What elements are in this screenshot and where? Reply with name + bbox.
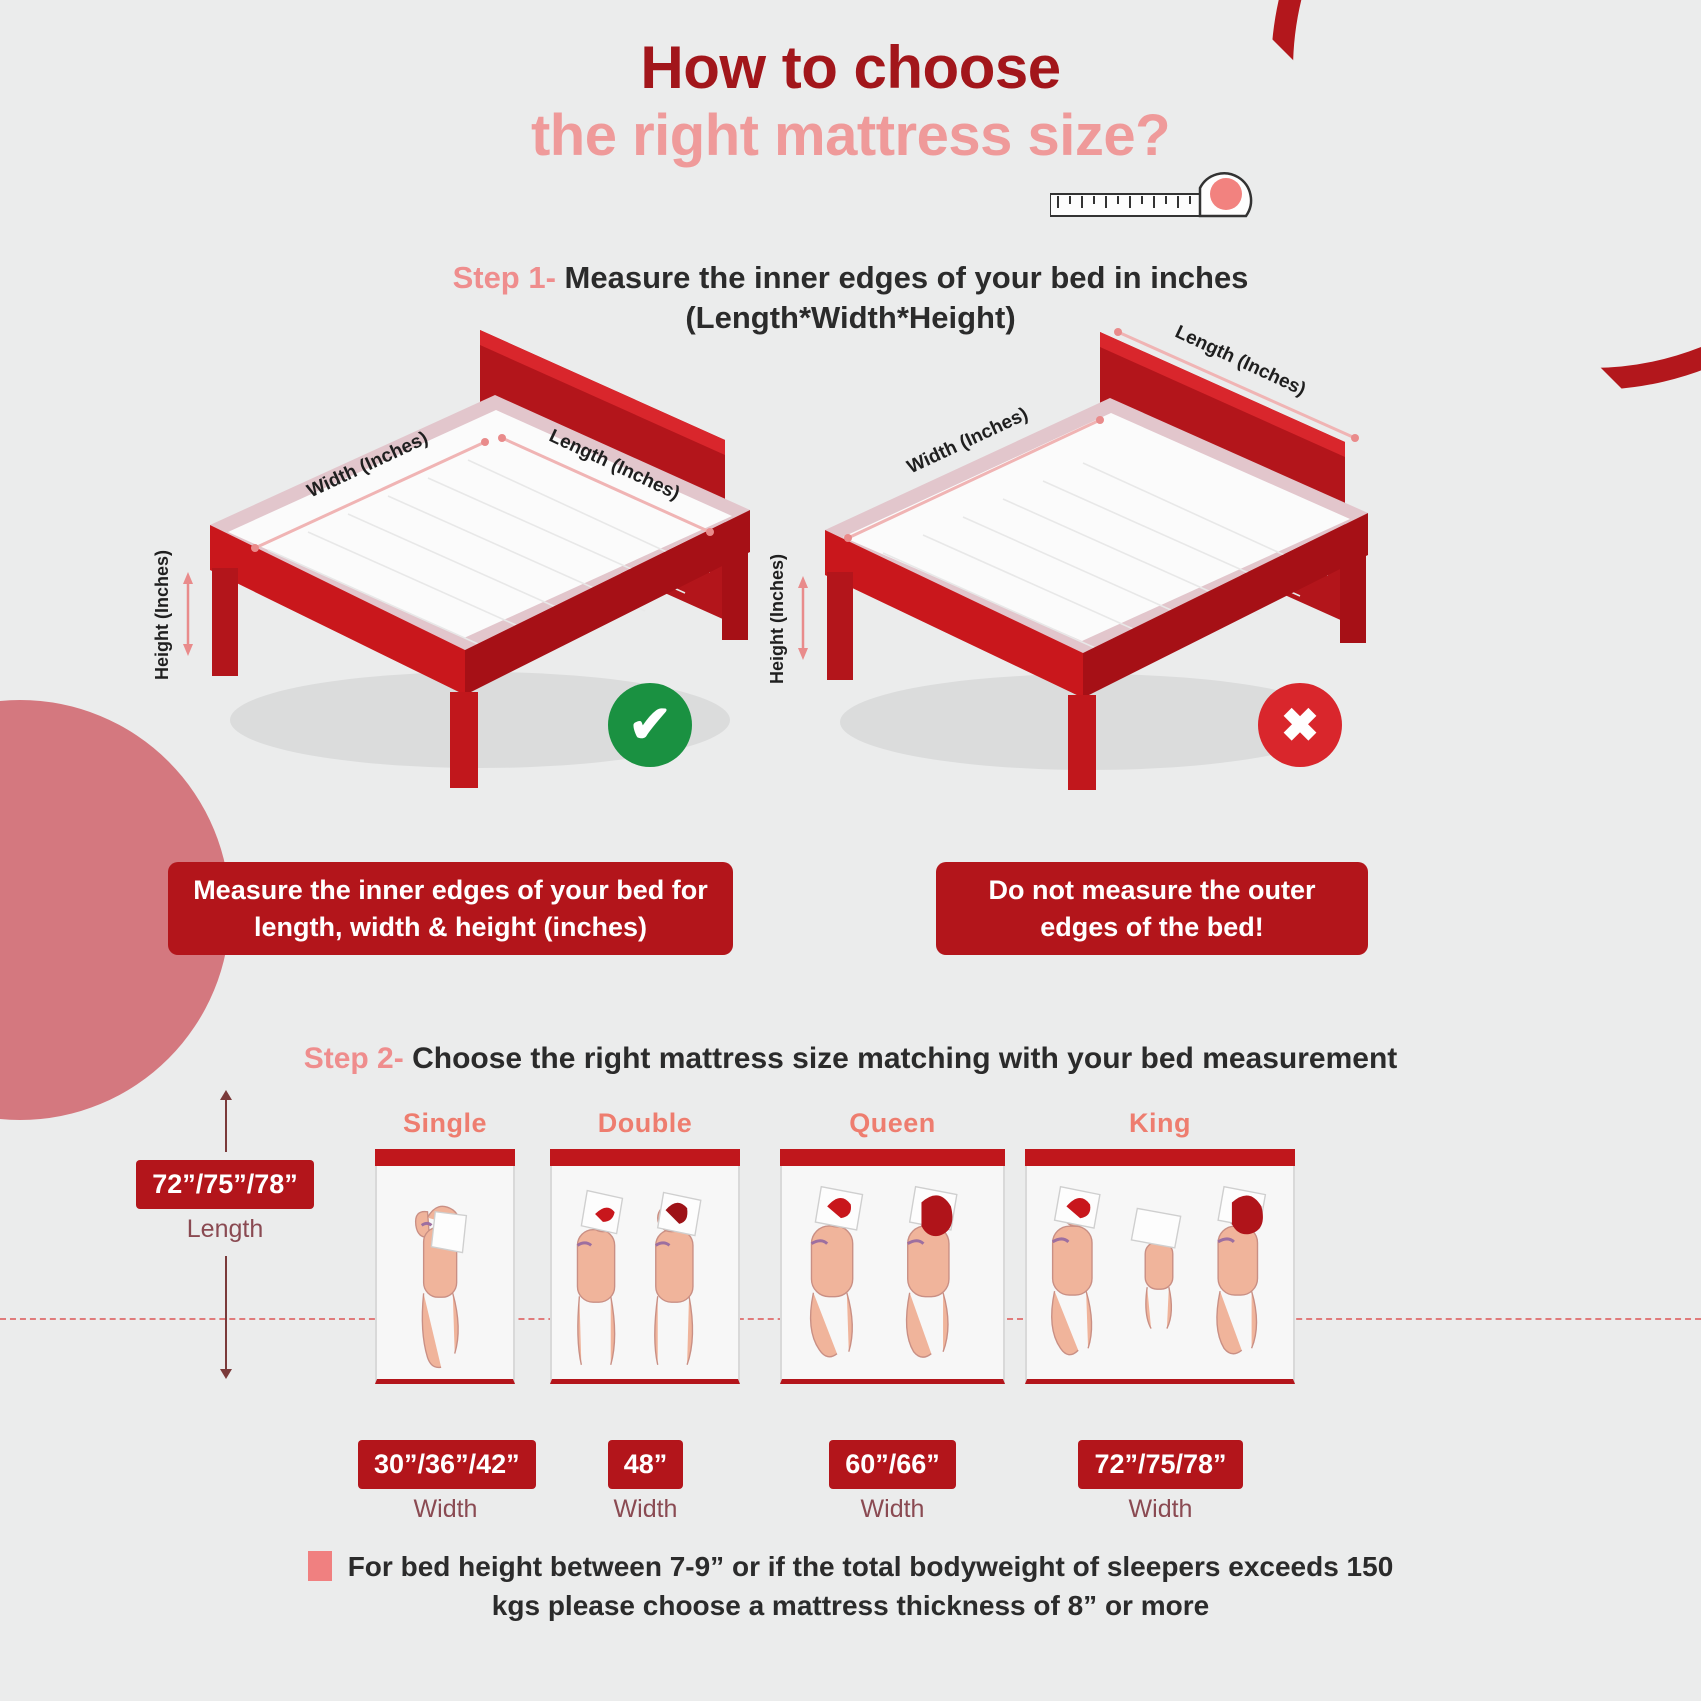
size-name-queen: Queen — [780, 1108, 1005, 1139]
measuring-tape-icon — [1050, 160, 1290, 230]
page-title-line2: the right mattress size? — [0, 103, 1701, 170]
width-block-king: 72”/75/78” Width — [1068, 1440, 1253, 1524]
page-header: How to choose the right mattress size? — [0, 36, 1701, 170]
bed-right-height-label: Height (Inches) — [770, 554, 787, 684]
callout-incorrect: Do not measure the outer edges of the be… — [936, 862, 1368, 955]
step-1-text: Measure the inner edges of your bed in i… — [565, 260, 1249, 295]
width-caption-queen: Width — [805, 1495, 980, 1524]
size-name-king: King — [1025, 1108, 1295, 1139]
width-block-queen: 60”/66” Width — [805, 1440, 980, 1524]
mattress-queen — [780, 1149, 1005, 1384]
footer-note: For bed height between 7-9” or if the to… — [0, 1548, 1701, 1625]
check-glyph: ✔ — [628, 699, 672, 751]
sleeper-figures-double — [552, 1169, 738, 1375]
step-2-tag: Step 2- — [304, 1042, 404, 1075]
cross-glyph: ✖ — [1281, 702, 1320, 748]
footer-line-1: For bed height between 7-9” or if the to… — [348, 1551, 1394, 1582]
width-caption-single: Width — [358, 1495, 533, 1524]
mattress-double — [550, 1149, 740, 1384]
bed-left-height-label: Height (Inches) — [152, 550, 172, 680]
size-column-single[interactable]: Single — [375, 1108, 515, 1384]
page-title-line1: How to choose — [0, 36, 1701, 99]
size-column-king[interactable]: King — [1025, 1108, 1295, 1384]
bed-illustration-area: Width (Inches) Length (Inches) Height (I… — [0, 320, 1701, 790]
mattress-size-row: Single Double — [0, 1108, 1701, 1428]
sleeper-figures-single — [377, 1169, 513, 1373]
bullet-square-icon — [308, 1551, 332, 1581]
width-caption-double: Width — [563, 1495, 728, 1524]
size-name-double: Double — [550, 1108, 740, 1139]
mattress-king — [1025, 1149, 1295, 1384]
cross-icon: ✖ — [1258, 683, 1342, 767]
step-1-tag: Step 1- — [453, 260, 556, 295]
size-name-single: Single — [375, 1108, 515, 1139]
width-value-single: 30”/36”/42” — [358, 1440, 536, 1489]
mattress-single — [375, 1149, 515, 1384]
size-column-queen[interactable]: Queen — [780, 1108, 1005, 1384]
sleeper-figures-king — [1027, 1169, 1293, 1376]
width-value-king: 72”/75/78” — [1078, 1440, 1242, 1489]
width-block-double: 48” Width — [563, 1440, 728, 1524]
size-column-double[interactable]: Double — [550, 1108, 740, 1384]
callout-correct: Measure the inner edges of your bed for … — [168, 862, 733, 955]
footer-line-2: kgs please choose a mattress thickness o… — [0, 1587, 1701, 1626]
width-caption-king: Width — [1068, 1495, 1253, 1524]
step-2-text: Choose the right mattress size matching … — [412, 1042, 1397, 1075]
width-value-double: 48” — [608, 1440, 684, 1489]
check-icon: ✔ — [608, 683, 692, 767]
width-block-single: 30”/36”/42” Width — [358, 1440, 533, 1524]
width-value-queen: 60”/66” — [829, 1440, 956, 1489]
sleeper-figures-queen — [782, 1169, 1003, 1375]
step-2-instruction: Step 2- Choose the right mattress size m… — [0, 1042, 1701, 1076]
width-labels-row: 30”/36”/42” Width 48” Width 60”/66” Widt… — [0, 1440, 1701, 1530]
